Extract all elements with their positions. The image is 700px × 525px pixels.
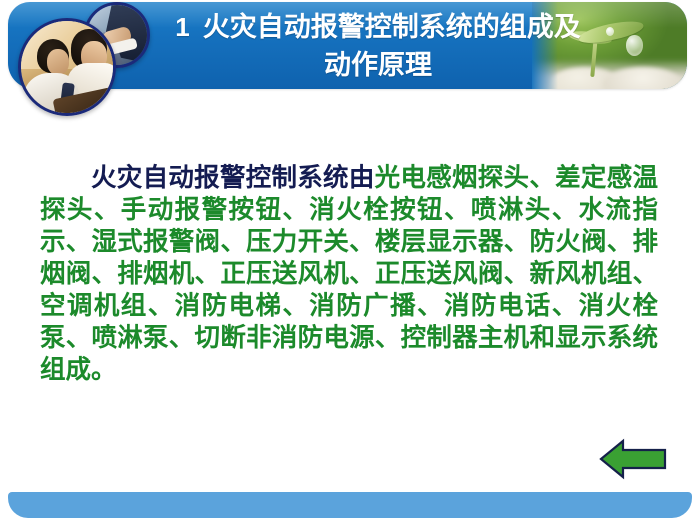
meeting-photo-person-left-face — [47, 49, 69, 75]
arrow-left-icon[interactable] — [599, 438, 667, 480]
meeting-photo-image — [21, 21, 113, 113]
meeting-photo — [18, 18, 116, 116]
body-paragraph: 火灾自动报警控制系统由光电感烟探头、差定感温探头、手动报警按钮、消火栓按钮、喷淋… — [40, 162, 658, 386]
sprout-photo-dew-large — [626, 35, 643, 56]
slide-title-number: 1 — [175, 12, 189, 42]
slide-title-line-1: 1火灾自动报警控制系统的组成及 — [168, 8, 588, 47]
slide-title: 1火灾自动报警控制系统的组成及 动作原理 — [168, 8, 588, 85]
back-arrow-button[interactable] — [599, 438, 667, 480]
footer-bar — [8, 492, 692, 518]
slide-canvas: 1火灾自动报警控制系统的组成及 动作原理 火灾自动报警控制系统由光电感烟探头、差… — [0, 0, 700, 525]
slide-title-line-1-text: 火灾自动报警控制系统的组成及 — [203, 12, 581, 43]
body-paragraph-lead: 火灾自动报警控制系统由 — [91, 163, 375, 193]
sprout-photo-dew-small — [606, 27, 614, 36]
body-paragraph-rest: 光电感烟探头、差定感温探头、手动报警按钮、消火栓按钮、喷淋头、水流指示、湿式报警… — [40, 163, 658, 385]
slide-title-line-2: 动作原理 — [168, 47, 588, 85]
